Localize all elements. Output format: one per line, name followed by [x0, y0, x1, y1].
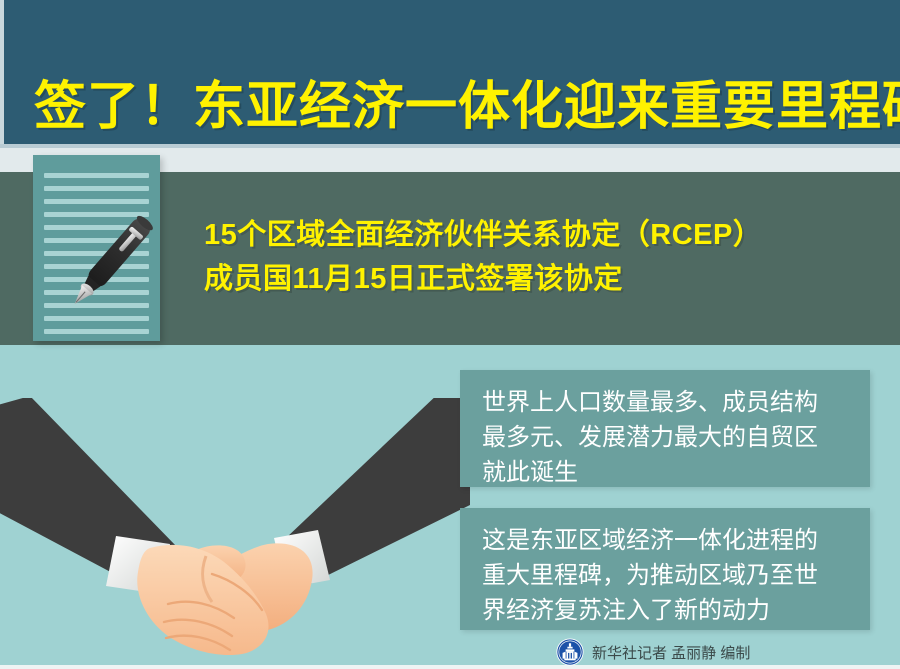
callout-1-line-1: 世界上人口数量最多、成员结构 — [482, 386, 852, 421]
callout-2-line-3: 界经济复苏注入了新的动力 — [482, 594, 852, 629]
callout-2-line-1: 这是东亚区域经济一体化进程的 — [482, 524, 852, 559]
callout-1-line-2: 最多元、发展潜力最大的自贸区 — [482, 421, 852, 456]
xinhua-news-agency-logo-icon — [556, 638, 584, 666]
callout-1-line-3: 就此诞生 — [482, 456, 852, 491]
infographic-poster: 签了！东亚经济一体化迎来重要里程碑 — [0, 0, 900, 669]
page-title: 签了！东亚经济一体化迎来重要里程碑 — [34, 63, 874, 153]
subtitle-line-2: 成员国11月15日正式签署该协定 — [204, 258, 884, 302]
callout-2-line-2: 重大里程碑，为推动区域乃至世 — [482, 559, 852, 594]
document-line — [44, 186, 149, 191]
footer-credit: 新华社记者 孟丽静 编制 — [556, 638, 750, 666]
header-left-edge — [0, 0, 4, 147]
document-line — [44, 173, 149, 178]
callout-box-1: 世界上人口数量最多、成员结构 最多元、发展潜力最大的自贸区 就此诞生 — [460, 370, 870, 487]
footer-credit-text: 新华社记者 孟丽静 编制 — [592, 642, 750, 663]
callout-box-2: 这是东亚区域经济一体化进程的 重大里程碑，为推动区域乃至世 界经济复苏注入了新的… — [460, 508, 870, 630]
fountain-pen-icon — [62, 204, 184, 326]
handshake-illustration — [0, 398, 470, 669]
document-line — [44, 329, 149, 334]
subtitle: 15个区域全面经济伙伴关系协定（RCEP） 成员国11月15日正式签署该协定 — [204, 214, 884, 301]
subtitle-line-1: 15个区域全面经济伙伴关系协定（RCEP） — [204, 214, 884, 258]
